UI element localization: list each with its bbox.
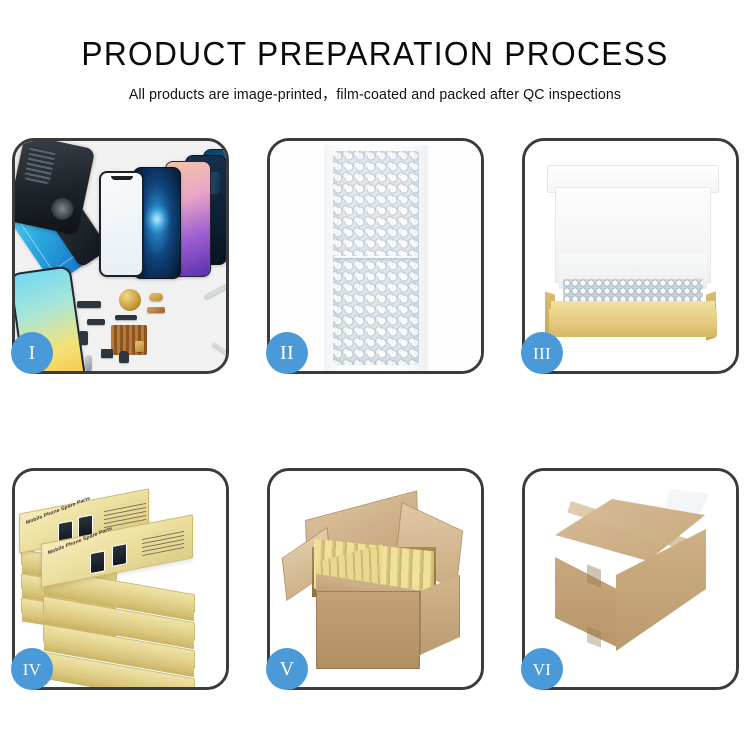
process-step-2: II [267, 138, 484, 374]
step-badge-3: III [521, 332, 563, 374]
spare-part-chip-9 [135, 341, 144, 352]
spare-part-chip-2 [149, 293, 163, 301]
phone-parts-scene [15, 141, 226, 371]
box-screen-graphic-4 [112, 543, 127, 567]
step-1-image [15, 141, 226, 371]
step-badge-5: V [266, 648, 308, 690]
box-spec-lines-front [142, 528, 184, 556]
header: PRODUCT PREPARATION PROCESS All products… [0, 0, 750, 104]
spare-part-chip-7 [119, 351, 129, 363]
step-badge-2: II [266, 332, 308, 374]
spare-part-chip-3 [147, 307, 165, 313]
spare-part-chip-8 [85, 355, 92, 371]
spare-part-chip-6 [101, 349, 113, 358]
step-3-image [525, 141, 736, 371]
page-title: PRODUCT PREPARATION PROCESS [15, 36, 735, 73]
product-preparation-process-page: PRODUCT PREPARATION PROCESS All products… [0, 0, 750, 750]
step-badge-4: IV [11, 648, 53, 690]
process-step-4: Mobile Phone Spare Parts Mobile Phone Sp… [12, 468, 229, 690]
process-step-5: V [267, 468, 484, 690]
page-subtitle: All products are image-printed，film-coat… [11, 83, 739, 104]
front-glass-panel-icon [99, 171, 144, 277]
box-screen-graphic-3 [90, 550, 105, 574]
wrap-seam [334, 256, 418, 258]
step-2-image [270, 141, 481, 371]
process-step-1: I [12, 138, 229, 374]
process-step-grid: I II III [12, 138, 738, 694]
carton-body-front [316, 591, 420, 669]
mailer-tray-front [549, 309, 717, 337]
process-step-3: III [522, 138, 739, 374]
process-step-6: VI [522, 468, 739, 690]
cable-icon-2 [212, 342, 226, 357]
spare-part-chip-1 [77, 301, 101, 308]
sealed-carton-left-face [555, 543, 617, 647]
cable-icon-1 [203, 283, 226, 300]
speaker-coil-icon [119, 289, 141, 311]
bubble-wrap-overlay-icon [333, 151, 419, 365]
spare-part-chip-10 [115, 315, 137, 320]
spare-part-chip-5 [79, 331, 88, 345]
step-badge-6: VI [521, 648, 563, 690]
spare-part-chip-4 [87, 319, 105, 325]
step-badge-1: I [11, 332, 53, 374]
